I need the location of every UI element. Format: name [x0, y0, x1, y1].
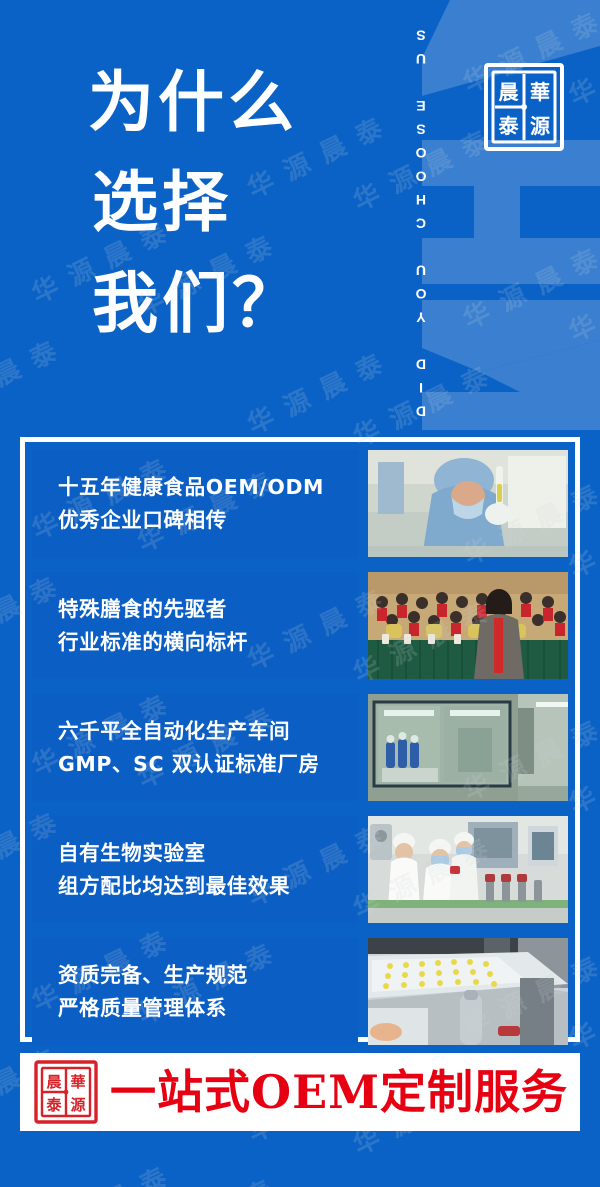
- feature-line-1: 资质完备、生产规范: [58, 962, 358, 988]
- feature-line-1: 六千平全自动化生产车间: [58, 718, 358, 744]
- svg-text:源: 源: [530, 114, 550, 138]
- feature-line-2: 严格质量管理体系: [58, 995, 358, 1021]
- production-line-workers-photo: [368, 816, 568, 923]
- feature-text-block: 资质完备、生产规范 严格质量管理体系: [32, 938, 358, 1045]
- feature-row: 六千平全自动化生产车间 GMP、SC 双认证标准厂房: [32, 694, 568, 801]
- conference-audience-photo: [368, 572, 568, 679]
- svg-text:泰: 泰: [498, 114, 520, 138]
- svg-text:晨: 晨: [499, 80, 520, 104]
- svg-text:華: 華: [70, 1073, 85, 1091]
- headline-line-3: 我们？: [88, 253, 302, 353]
- svg-text:晨: 晨: [46, 1073, 62, 1091]
- feature-line-1: 十五年健康食品OEM/ODM: [58, 474, 358, 500]
- headline-line-1: 为什么: [88, 52, 302, 152]
- feature-line-1: 自有生物实验室: [58, 840, 358, 866]
- bottom-cta-banner: 晨 泰 華 源 一站式OEM定制服务: [20, 1053, 580, 1131]
- headline-block: 为什么 选择 我们？: [88, 52, 302, 353]
- svg-text:源: 源: [70, 1096, 85, 1114]
- feature-list: 十五年健康食品OEM/ODM 优秀企业口碑相传: [32, 450, 568, 1045]
- vertical-english-strapline: DID YOU CHOOSE US: [408, 20, 434, 420]
- feature-line-2: 优秀企业口碑相传: [58, 507, 358, 533]
- feature-text-block: 自有生物实验室 组方配比均达到最佳效果: [32, 816, 358, 923]
- feature-line-2: 行业标准的横向标杆: [58, 629, 358, 655]
- feature-line-2: GMP、SC 双认证标准厂房: [58, 751, 358, 777]
- feature-text-block: 六千平全自动化生产车间 GMP、SC 双认证标准厂房: [32, 694, 358, 801]
- feature-line-1: 特殊膳食的先驱者: [58, 596, 358, 622]
- cleanroom-corridor-photo: [368, 694, 568, 801]
- feature-text-block: 特殊膳食的先驱者 行业标准的横向标杆: [32, 572, 358, 679]
- cta-banner-text: 一站式OEM定制服务: [110, 1069, 568, 1115]
- tablet-packaging-machine-photo: [368, 938, 568, 1045]
- lab-technician-pipetting-photo: [368, 450, 568, 557]
- feature-line-2: 组方配比均达到最佳效果: [58, 873, 358, 899]
- headline-line-2: 选择: [88, 152, 302, 252]
- feature-row: 特殊膳食的先驱者 行业标准的横向标杆: [32, 572, 568, 679]
- svg-text:華: 華: [530, 80, 550, 104]
- brand-seal-logo-red: 晨 泰 華 源: [32, 1058, 100, 1126]
- feature-row: 资质完备、生产规范 严格质量管理体系: [32, 938, 568, 1045]
- feature-row: 自有生物实验室 组方配比均达到最佳效果: [32, 816, 568, 923]
- poster-root: 为什么 选择 我们？ DID YOU CHOOSE US 晨 泰 華 源: [0, 0, 600, 1187]
- svg-text:泰: 泰: [45, 1096, 62, 1114]
- vertical-english-text: DID YOU CHOOSE US: [413, 20, 429, 420]
- brand-seal-logo-white: 晨 泰 華 源: [478, 57, 570, 157]
- feature-row: 十五年健康食品OEM/ODM 优秀企业口碑相传: [32, 450, 568, 557]
- feature-text-block: 十五年健康食品OEM/ODM 优秀企业口碑相传: [32, 450, 358, 557]
